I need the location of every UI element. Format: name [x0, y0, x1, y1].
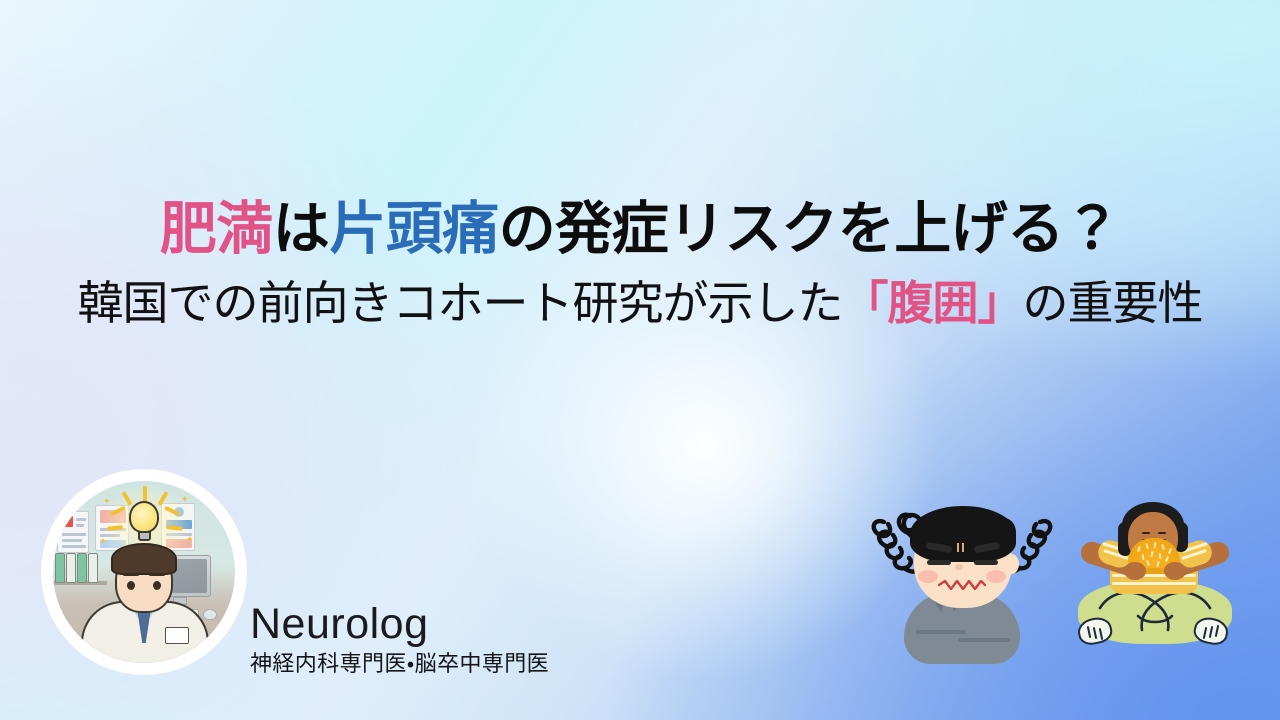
- logo-white-ring: ✦ ✦ ✦ ✦: [42, 470, 246, 674]
- doctor-brow: [149, 573, 165, 576]
- slide-canvas: 肥満は片頭痛の発症リスクを上げる？ 韓国での前向きコホート研究が示した「腹囲」の…: [0, 0, 1280, 720]
- headache-man-cheek: [918, 570, 938, 583]
- headline-keyword-migraine: 片頭痛: [329, 197, 499, 261]
- headache-man-eye: [974, 560, 998, 565]
- page-title: 肥満は片頭痛の発症リスクを上げる？: [0, 196, 1280, 262]
- brand-logo: ✦ ✦ ✦ ✦: [42, 470, 246, 696]
- doctor-eye: [153, 581, 161, 590]
- headache-man-hair-tuft: [914, 518, 932, 540]
- eating-person-illustration: [1072, 496, 1238, 662]
- eating-person-hand: [1164, 562, 1186, 580]
- brand-name: Neurolog: [250, 602, 660, 647]
- doctor-brow: [123, 573, 139, 576]
- subhead-tail: の重要性: [1023, 277, 1203, 329]
- brand-block: ✦ ✦ ✦ ✦: [42, 470, 662, 700]
- sparkle-icon: ✦: [99, 537, 107, 546]
- binder-icon: [66, 553, 76, 583]
- headache-man-arm: [916, 630, 966, 634]
- binder-icon: [77, 553, 87, 583]
- eating-person-brow: [1158, 532, 1166, 534]
- binder-icon: [55, 553, 65, 583]
- headache-man-eye: [927, 560, 951, 565]
- subhead-lead: 韓国での前向きコホート研究が示した: [78, 277, 843, 329]
- doctor-id-badge: [165, 627, 189, 644]
- headache-man-illustration: [862, 488, 1062, 668]
- headline-tail: の発症リスクを上げる？: [499, 197, 1121, 261]
- sparkle-icon: ✦: [103, 497, 111, 506]
- sparkle-icon: ✦: [181, 495, 189, 504]
- doctor-avatar-icon: ✦ ✦ ✦ ✦: [53, 481, 235, 663]
- binder-icon: [88, 553, 98, 583]
- doctor-hair: [111, 543, 177, 575]
- wall-poster-icon: [57, 511, 89, 553]
- sparkle-icon: ✦: [186, 535, 194, 544]
- doctor-eye: [127, 581, 135, 590]
- mouse-icon: [203, 609, 217, 620]
- headline-keyword-obesity: 肥満: [160, 197, 273, 261]
- eating-person-hand: [1124, 562, 1146, 580]
- eating-person-brow: [1142, 532, 1150, 534]
- brand-subtitle: 神経内科専門医・脳卒中専門医: [250, 651, 660, 677]
- title-block: 肥満は片頭痛の発症リスクを上げる？ 韓国での前向きコホート研究が示した「腹囲」の…: [0, 196, 1280, 330]
- headline-particle: は: [273, 197, 330, 261]
- headache-man-arm: [958, 638, 1010, 642]
- subhead-keyword-waist: 「腹囲」: [843, 277, 1023, 329]
- headache-man-mouth-icon: [938, 580, 986, 590]
- brand-text-block: Neurolog 神経内科専門医・脳卒中専門医: [250, 602, 660, 677]
- headache-man-frown-line: [957, 543, 959, 552]
- headache-man-cheek: [986, 570, 1006, 583]
- headache-man-ear: [1004, 554, 1019, 574]
- headache-man-nose: [955, 564, 963, 570]
- headache-man-frown-line: [962, 543, 964, 552]
- lightbulb-icon: [129, 501, 159, 533]
- lightbulb-base-icon: [138, 531, 151, 541]
- page-subtitle: 韓国での前向きコホート研究が示した「腹囲」の重要性: [0, 276, 1280, 330]
